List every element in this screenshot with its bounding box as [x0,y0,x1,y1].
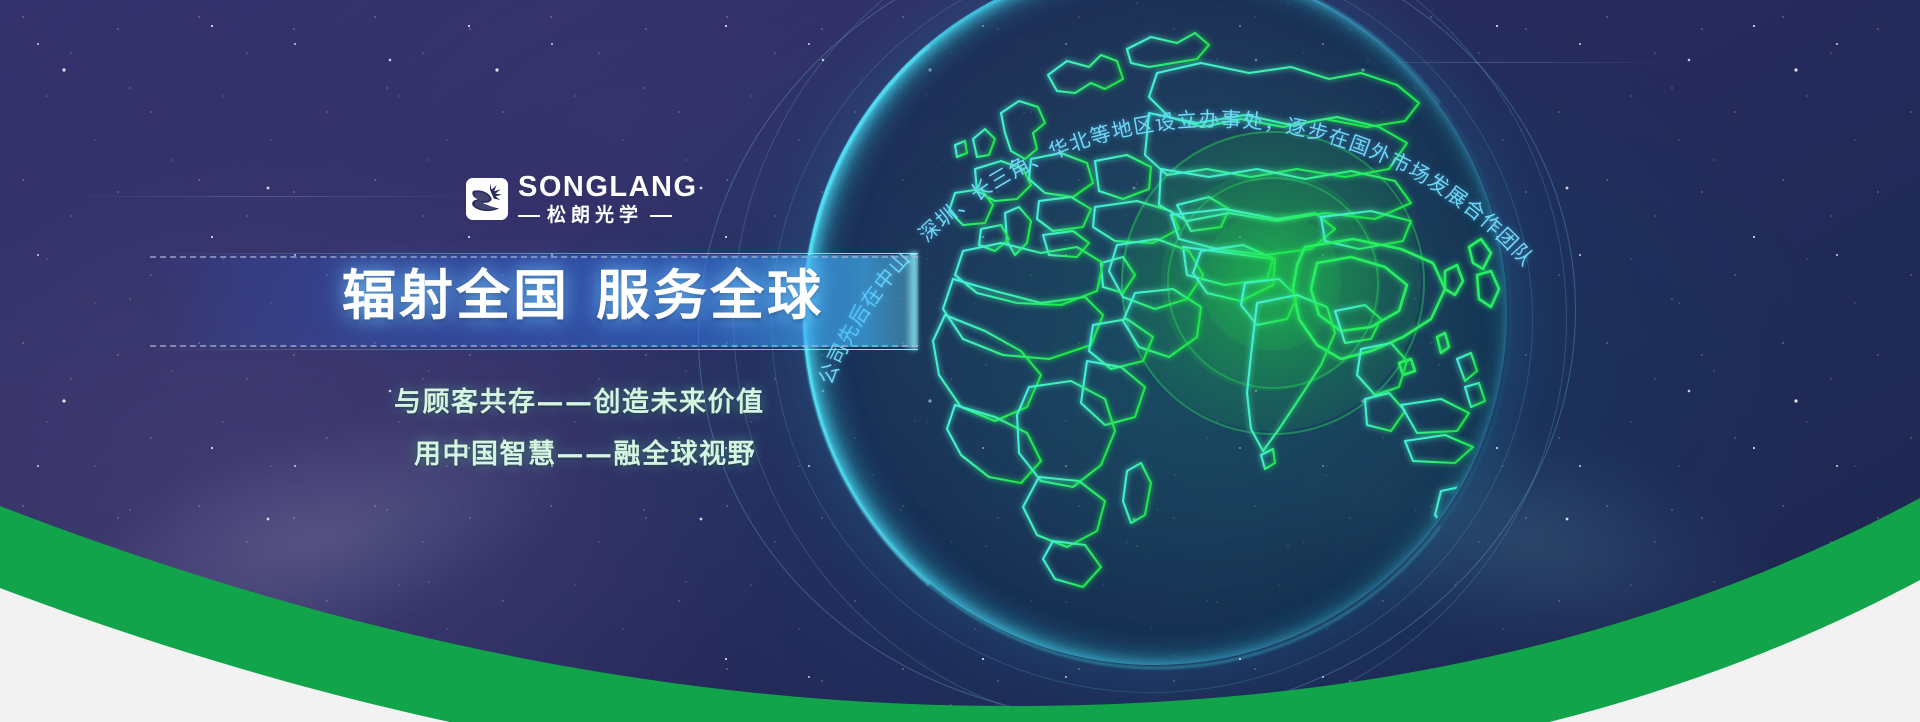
subheading-line-2: 用中国智慧——融全球视野 [414,432,756,471]
logo-word-cn-row: 松朗光学 [518,206,698,225]
logo-wordmark: SONGLANG 松朗光学 [518,173,698,225]
light-streak [60,196,480,197]
headline-dashed-rule-bottom [150,345,918,347]
logo-rule-left [518,215,540,217]
headline-dashed-rule-top [150,256,918,258]
page-title: 辐射全国服务全球 [342,262,942,330]
brand-logo[interactable]: SONGLANG 松朗光学 [466,173,698,225]
logo-word-cn: 松朗光学 [547,206,643,225]
promo-banner: 公司先后在中山、深圳、长三角、华北等地区设立办事处，逐步在国外市场发展合作团队 … [0,0,1920,722]
subheading-line-1: 与顾客共存——创造未来价值 [394,380,765,419]
headline-band-line-top [150,253,918,254]
logo-word-en: SONGLANG [518,173,698,202]
headline-segment-2: 服务全球 [596,264,824,327]
headline-band-line-bottom [150,349,918,350]
bottom-curve-decoration [0,492,1920,722]
logo-rule-right [650,215,672,217]
headline-segment-1: 辐射全国 [342,264,570,327]
s-starburst-icon [466,178,508,220]
